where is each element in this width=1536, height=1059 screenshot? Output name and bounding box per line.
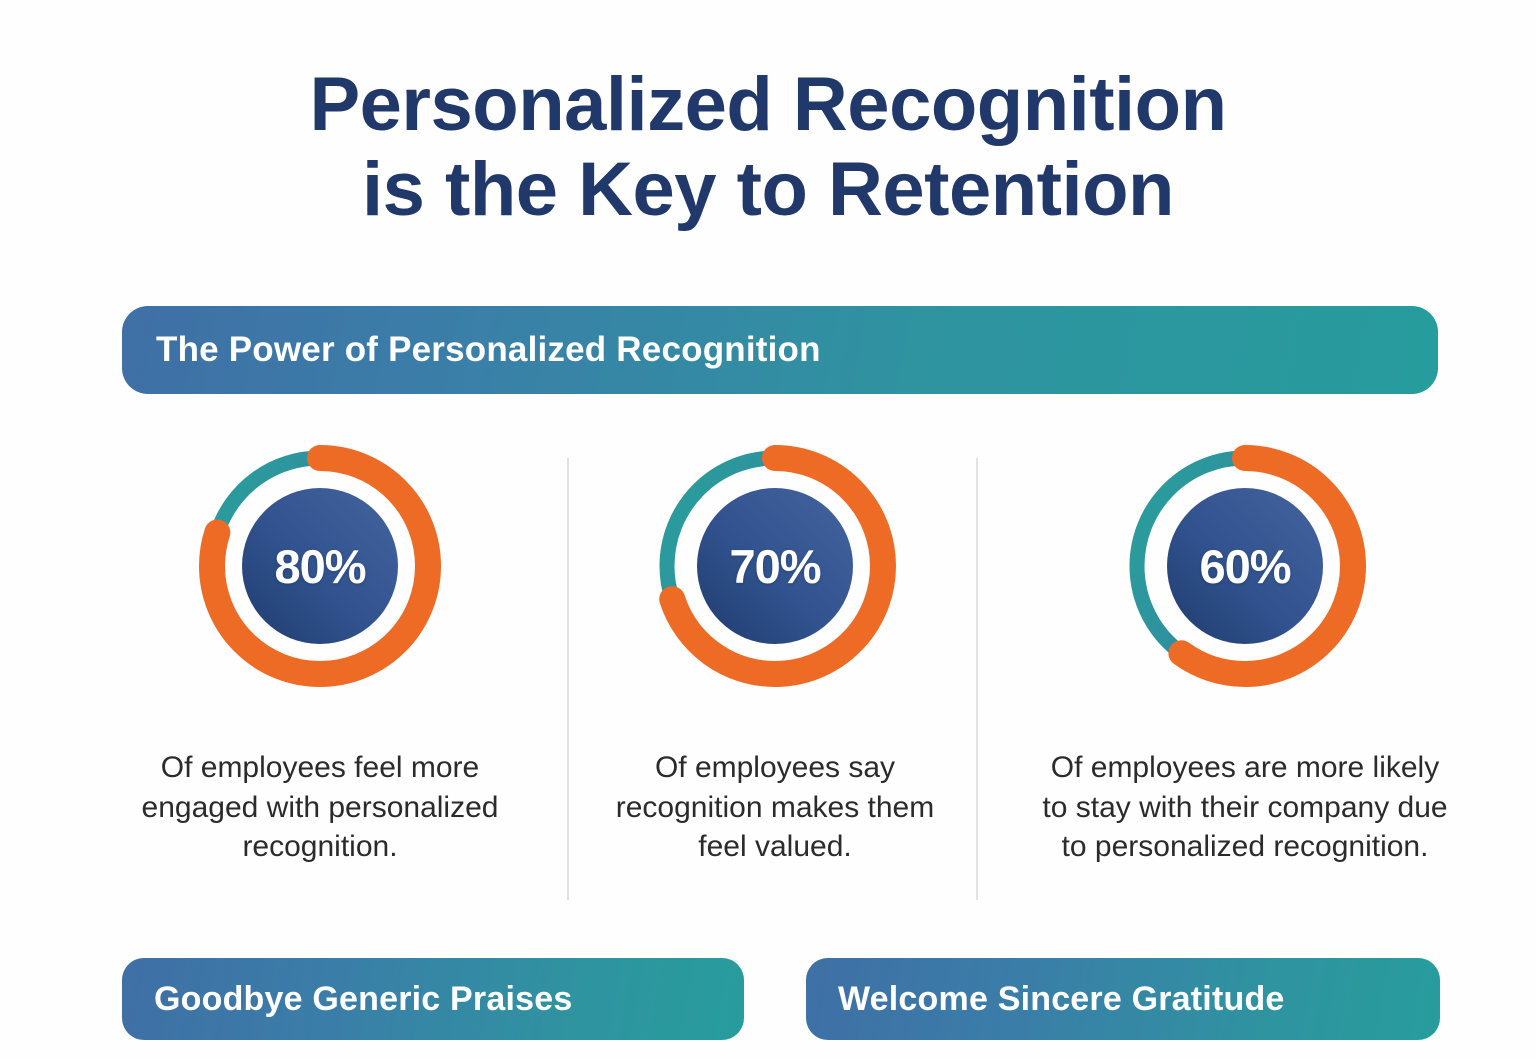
donut-inner-circle-3 xyxy=(1167,488,1323,644)
column-divider-1 xyxy=(567,458,569,900)
column-divider-2 xyxy=(976,458,978,900)
footer-pill-goodbye: Goodbye Generic Praises xyxy=(122,958,744,1040)
donut-chart-2: 70% xyxy=(649,440,901,692)
stat-column-2: 70% Of employees say recognition makes t… xyxy=(600,440,950,867)
page-title-line-1: Personalized Recognition xyxy=(0,62,1536,147)
donut-chart-3: 60% xyxy=(1119,440,1371,692)
page-title-line-2: is the Key to Retention xyxy=(0,147,1536,232)
donut-svg-1 xyxy=(194,440,446,692)
stat-caption-1: Of employees feel more engaged with pers… xyxy=(120,748,520,867)
stat-column-1: 80% Of employees feel more engaged with … xyxy=(120,440,520,867)
donut-svg-3 xyxy=(1119,440,1371,692)
donut-inner-circle-1 xyxy=(242,488,398,644)
stats-row: 80% Of employees feel more engaged with … xyxy=(0,440,1536,920)
footer-pill-goodbye-label: Goodbye Generic Praises xyxy=(154,980,572,1019)
page-title: Personalized Recognition is the Key to R… xyxy=(0,62,1536,232)
donut-chart-1: 80% xyxy=(194,440,446,692)
section-banner-label: The Power of Personalized Recognition xyxy=(156,330,821,370)
section-banner: The Power of Personalized Recognition xyxy=(122,306,1438,394)
footer-pill-welcome-label: Welcome Sincere Gratitude xyxy=(838,980,1285,1019)
donut-inner-circle-2 xyxy=(697,488,853,644)
stat-caption-3: Of employees are more likely to stay wit… xyxy=(1040,748,1450,867)
donut-svg-2 xyxy=(649,440,901,692)
stat-column-3: 60% Of employees are more likely to stay… xyxy=(1020,440,1470,867)
stat-caption-2: Of employees say recognition makes them … xyxy=(610,748,940,867)
infographic-page: Personalized Recognition is the Key to R… xyxy=(0,0,1536,1059)
footer-pill-welcome: Welcome Sincere Gratitude xyxy=(806,958,1440,1040)
